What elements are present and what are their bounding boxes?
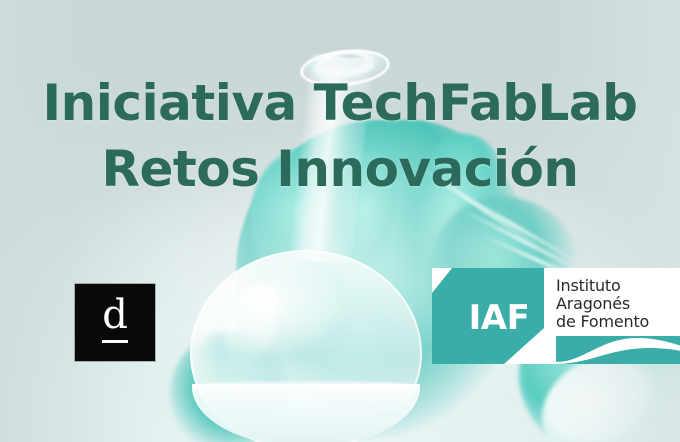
- iaf-wave-graphic: [556, 336, 680, 364]
- iaf-name-line-1: Instituto: [556, 277, 680, 295]
- promotional-banner: Iniciativa TechFabLab Retos Innovación d…: [0, 0, 680, 442]
- iaf-name-line-3: de Fomento: [556, 313, 680, 331]
- iaf-logo-wordmark: Instituto Aragonés de Fomento: [544, 268, 680, 364]
- deusto-d-logo[interactable]: d: [75, 284, 155, 361]
- iaf-acronym: IAF: [469, 298, 530, 338]
- iaf-name-line-2: Aragonés: [556, 295, 680, 313]
- title-line-2: Retos Innovación: [0, 144, 680, 194]
- page-title: Iniciativa TechFabLab Retos Innovación: [0, 78, 680, 194]
- title-line-1: Iniciativa TechFabLab: [0, 78, 680, 128]
- background-photo: [0, 0, 680, 442]
- iaf-logo-mark: IAF: [432, 268, 544, 364]
- photo-vignette: [0, 0, 680, 442]
- iaf-logo[interactable]: IAF Instituto Aragonés de Fomento: [432, 268, 680, 364]
- deusto-d-glyph: d: [102, 295, 128, 343]
